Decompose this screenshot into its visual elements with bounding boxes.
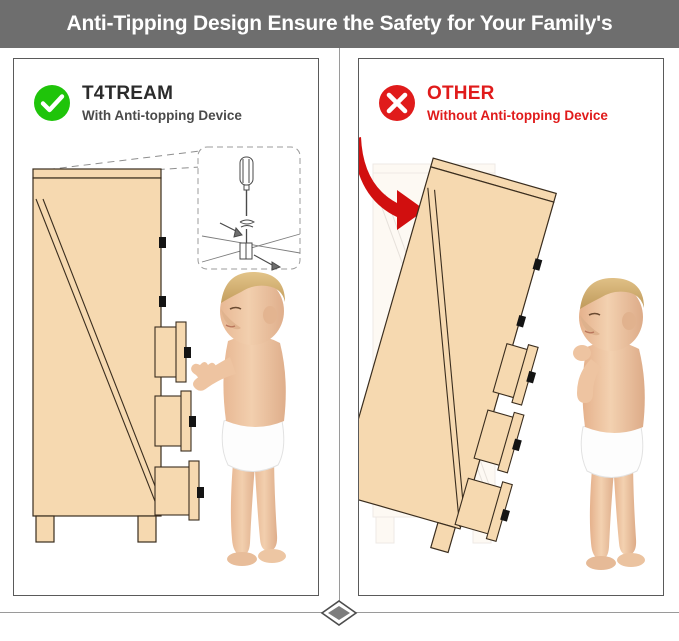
diamond-ornament-icon — [316, 590, 362, 636]
drawer-1 — [155, 322, 186, 382]
red-x-circle-icon — [378, 84, 416, 122]
header-banner: Anti-Tipping Design Ensure the Safety fo… — [0, 0, 679, 48]
panel-good-title: T4TREAM — [82, 84, 242, 103]
toddler-figure-left — [190, 271, 308, 571]
drawer-2 — [155, 391, 191, 451]
toddler-figure-right — [549, 275, 664, 575]
panel-bad-title: OTHER — [427, 84, 608, 103]
panel-good-subtitle: With Anti-topping Device — [82, 109, 242, 123]
green-check-circle-icon — [33, 84, 71, 122]
panel-good: T4TREAM With Anti-topping Device — [13, 58, 319, 596]
center-divider — [339, 48, 340, 613]
anti-tip-bracket-icon — [240, 243, 252, 259]
infographic-poster: Anti-Tipping Design Ensure the Safety fo… — [0, 0, 679, 641]
anti-tip-callout-box — [198, 147, 300, 270]
panel-bad-subtitle: Without Anti-topping Device — [427, 109, 608, 123]
panel-good-heading: T4TREAM With Anti-topping Device — [33, 84, 242, 123]
panel-bad-heading: OTHER Without Anti-topping Device — [378, 84, 608, 123]
page-title: Anti-Tipping Design Ensure the Safety fo… — [67, 12, 613, 36]
panel-bad: OTHER Without Anti-topping Device — [358, 58, 664, 596]
dresser-upright — [33, 169, 204, 542]
